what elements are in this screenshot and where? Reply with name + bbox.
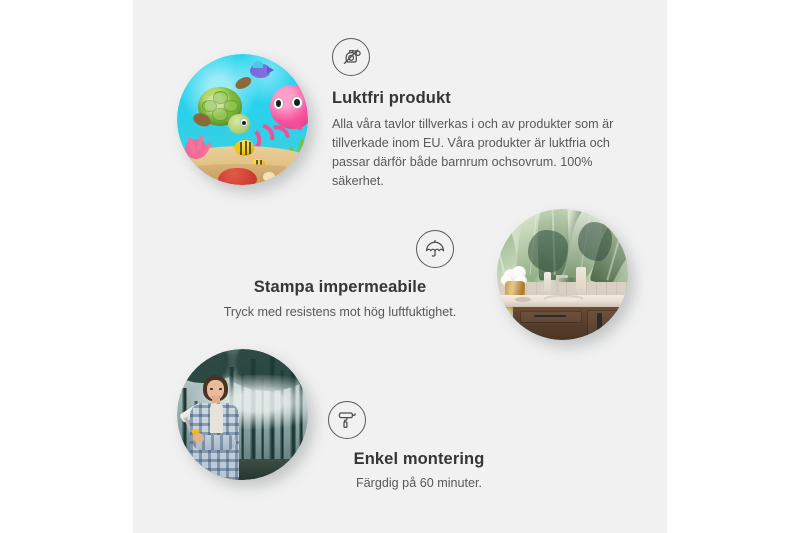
towel-holder (576, 267, 586, 295)
feature-icon-row (214, 230, 466, 268)
feature-odourless: Luktfri produkt Alla våra tavlor tillver… (332, 38, 622, 192)
feature-body: Färgdig på 60 minuter. (316, 474, 522, 493)
yellow-fish-tail (232, 142, 240, 152)
seashell (263, 172, 275, 181)
turtle-eye (240, 118, 248, 127)
product-feature-banner: Luktfri produkt Alla våra tavlor tillver… (0, 0, 800, 533)
feature-title: Enkel montering (316, 450, 522, 469)
feature-icon-row (316, 401, 522, 439)
blue-fish-tail (267, 66, 274, 74)
underwater-cartoon-photo (177, 54, 308, 185)
feature-title: Luktfri produkt (332, 89, 622, 108)
no-fragrance-icon (332, 38, 370, 76)
woman-paint-roller-forest-photo (177, 349, 308, 480)
feature-title: Stampa impermeabile (214, 278, 466, 297)
bathroom-leaf-wallpaper-photo (497, 209, 628, 340)
feature-body: Tryck med resistens mot hög luftfuktighe… (214, 303, 466, 322)
wooden-vanity (513, 307, 628, 340)
woman-inner-top (210, 404, 223, 433)
blue-fish-fin (253, 61, 263, 68)
wallpaper-shadow (528, 230, 567, 272)
soap-bottle (544, 272, 551, 293)
crab (218, 168, 257, 185)
soap-dish (515, 297, 531, 302)
octopus-eye-right (291, 96, 303, 109)
wallpaper-shadow (578, 222, 612, 261)
umbrella-icon (416, 230, 454, 268)
faucet-spout (556, 275, 568, 278)
paint-roller-icon (328, 401, 366, 439)
feature-body: Alla våra tavlor tillverkas i och av pro… (332, 115, 622, 192)
feature-assembly: Enkel montering Färgdig på 60 minuter. (316, 401, 522, 493)
feature-waterproof: Stampa impermeabile Tryck med resistens … (214, 230, 466, 322)
